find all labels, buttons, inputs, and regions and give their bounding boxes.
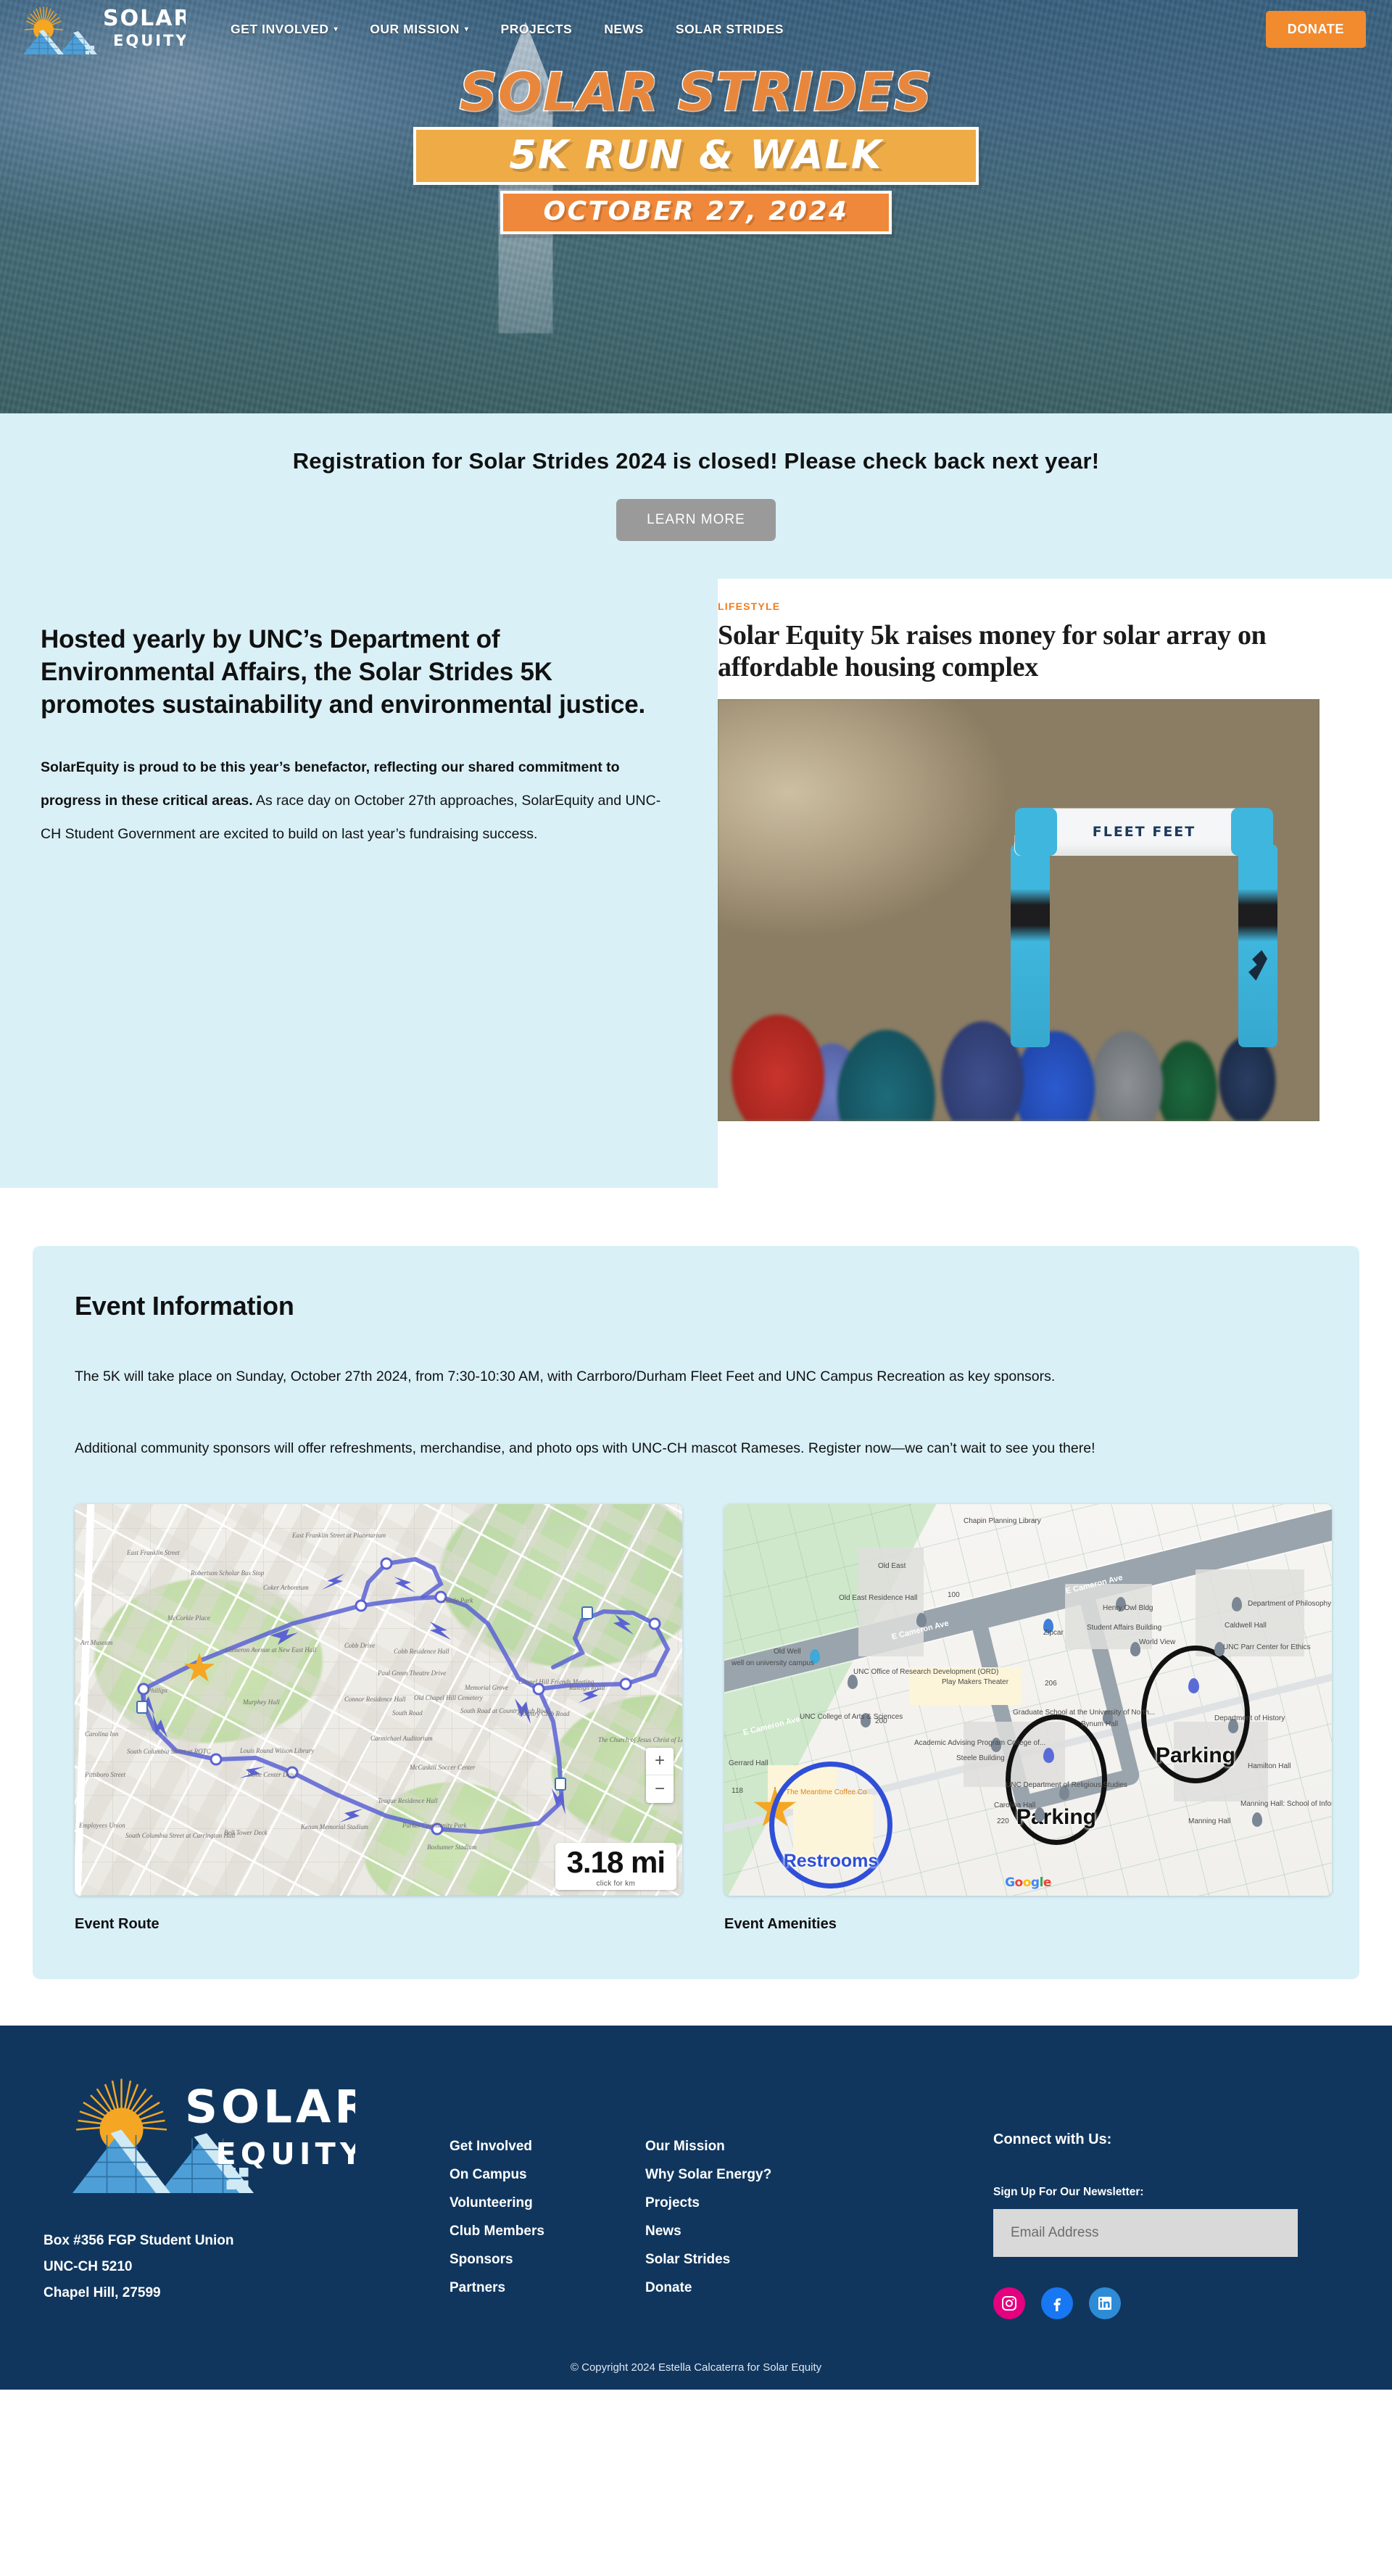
hero-title: SOLAR STRIDES (413, 67, 979, 118)
map-place-label: Steele Building (956, 1754, 1005, 1762)
hero-header: SOLAR EQUITY GET INVOLVED ▾ OUR MISSION … (0, 0, 1392, 413)
svg-text:EQUITY: EQUITY (216, 2137, 356, 2171)
main-navigation: SOLAR EQUITY GET INVOLVED ▾ OUR MISSION … (0, 0, 1392, 58)
footer-link[interactable]: Donate (645, 2280, 841, 2296)
article-kicker: LIFESTYLE (718, 600, 1392, 612)
chevron-down-icon: ▾ (465, 26, 469, 33)
footer-link[interactable]: Solar Strides (645, 2252, 841, 2268)
map-place-label: McCorkle Place (167, 1614, 210, 1622)
parking-pin-icon (1188, 1678, 1199, 1693)
map-place-label: Old East (878, 1562, 906, 1570)
footer-link[interactable]: On Campus (449, 2167, 645, 2183)
footer-column-our-mission: Our Mission Why Solar Energy? Projects N… (645, 2139, 841, 2308)
fleet-feet-arch: FLEET FEET (999, 808, 1289, 1047)
hero-subtitle: 5K RUN & WALK (423, 136, 969, 175)
map-pin-icon (1035, 1807, 1045, 1822)
map-place-label: Graduate School at the University of Nor… (1013, 1709, 1155, 1717)
map-place-label: Henry Owl Bldg (1103, 1604, 1153, 1612)
social-links (993, 2287, 1341, 2319)
map-place-label: East Franklin Street at Planetarium (292, 1532, 386, 1539)
donate-button[interactable]: DONATE (1266, 11, 1366, 48)
map-place-label: Connor Residence Hall (344, 1696, 406, 1703)
map-place-label: Phillips (147, 1687, 167, 1694)
footer-address: Box #356 FGP Student Union UNC-CH 5210 C… (43, 2228, 449, 2306)
map-place-label: McCaskill Soccer Center (410, 1764, 475, 1771)
address-line: Box #356 FGP Student Union (43, 2228, 449, 2254)
map-place-label: 220 (997, 1817, 1009, 1825)
map-pin-icon (848, 1675, 858, 1689)
map-place-label: Cameron Avenue at New East Hall (225, 1646, 316, 1654)
parking-label: Parking (1156, 1743, 1235, 1768)
map-place-label: Cobb Drive (344, 1642, 375, 1649)
footer-link[interactable]: Partners (449, 2280, 645, 2296)
restrooms-circle: Restrooms (769, 1762, 892, 1888)
footer-link[interactable]: Our Mission (645, 2139, 841, 2155)
coffee-shop-label: The Meantime Coffee Co (786, 1788, 867, 1796)
map-place-label: World View (1139, 1638, 1175, 1646)
map-place-label: Zipcar (1043, 1629, 1064, 1637)
event-information-section: Event Information The 5K will take place… (0, 1188, 1392, 2026)
map-place-label: Cobb Residence Hall (394, 1648, 449, 1655)
map-place-label: The Church of Jesus Christ of Latter-day… (598, 1736, 682, 1743)
map-place-label: Battle Park (443, 1597, 473, 1604)
map-place-label: Pittsboro Street (85, 1771, 125, 1778)
map-place-label: Old Well (774, 1648, 801, 1656)
nav-label: PROJECTS (500, 22, 572, 37)
map-place-label: Louis Round Wilson Library (240, 1747, 314, 1754)
hero-banner-art: SOLAR STRIDES 5K RUN & WALK OCTOBER 27, … (413, 67, 979, 234)
footer-link[interactable]: Projects (645, 2195, 841, 2211)
arch-leg-right (1238, 844, 1277, 1047)
map-place-label: Robertson Scholar Bus Stop (191, 1569, 264, 1577)
map-place-label: Academic Advising Program College of... (914, 1739, 1045, 1747)
map-place-label: Boshamer Stadium (427, 1844, 476, 1851)
parking-circle-south: Parking (1006, 1714, 1107, 1845)
map-place-label: Employees Union (79, 1822, 125, 1829)
map-place-label: Carolina Hall (994, 1801, 1035, 1809)
map-place-label: Chapin Planning Library (964, 1517, 1041, 1525)
event-amenities-column: E Cameron Ave E Cameron Ave E Cameron Av… (724, 1504, 1332, 1933)
connect-heading: Connect with Us: (993, 2131, 1341, 2148)
footer-link[interactable]: Club Members (449, 2224, 645, 2239)
registration-notice-section: Registration for Solar Strides 2024 is c… (0, 413, 1392, 579)
footer-connect: Connect with Us: Sign Up For Our Newslet… (993, 2066, 1341, 2319)
footer-link[interactable]: Sponsors (449, 2252, 645, 2268)
map-place-label: well on university campus (732, 1659, 814, 1667)
newsletter-heading: Sign Up For Our Newsletter: (993, 2186, 1341, 2199)
svg-text:SOLAR: SOLAR (185, 2080, 355, 2133)
map-place-label: East Franklin Street (127, 1549, 180, 1556)
newsletter-email-input[interactable] (993, 2209, 1298, 2257)
restrooms-label: Restrooms (784, 1851, 879, 1872)
intro-article-section: Hosted yearly by UNC’s Department of Env… (0, 579, 1392, 1188)
map-place-label: Bynum Hall (1081, 1720, 1118, 1728)
footer-content: SOLAR EQUITY Box #356 FGP Student Union … (0, 2066, 1392, 2319)
learn-more-button[interactable]: LEARN MORE (616, 499, 776, 541)
map-place-label: Murphey Hall (243, 1698, 280, 1706)
address-line: UNC-CH 5210 (43, 2254, 449, 2280)
footer-link[interactable]: Why Solar Energy? (645, 2167, 841, 2183)
map-place-label: 100 (948, 1591, 960, 1599)
map-place-label: Caldwell Hall (1225, 1622, 1267, 1630)
event-route-map[interactable]: + − 3.18 mi click for km East Franklin S… (75, 1504, 682, 1896)
site-logo[interactable]: SOLAR EQUITY (22, 1, 188, 57)
arch-brand-text: FLEET FEET (999, 824, 1289, 840)
site-footer: SOLAR EQUITY Box #356 FGP Student Union … (0, 2026, 1392, 2390)
nav-item-get-involved[interactable]: GET INVOLVED ▾ (215, 15, 354, 44)
article-headline: Solar Equity 5k raises money for solar a… (718, 619, 1385, 683)
map-place-label: South Road (392, 1709, 423, 1717)
map-place-label: UNC Parr Center for Ethics (1223, 1643, 1311, 1651)
arch-leg-left (1011, 844, 1050, 1047)
map-place-label: UNC Department of Religious Studies (1006, 1781, 1127, 1789)
solar-equity-logo-icon: SOLAR EQUITY (22, 1, 186, 57)
parking-pin-icon (1043, 1748, 1054, 1763)
footer-link[interactable]: Volunteering (449, 2195, 645, 2211)
route-map-zoom-in-button[interactable]: + (646, 1748, 674, 1775)
event-route-column: + − 3.18 mi click for km East Franklin S… (75, 1504, 682, 1933)
nav-item-our-mission[interactable]: OUR MISSION ▾ (354, 15, 484, 44)
linkedin-icon[interactable] (1089, 2287, 1121, 2319)
footer-solar-equity-logo-icon: SOLAR EQUITY (65, 2066, 355, 2215)
nav-item-solar-strides[interactable]: SOLAR STRIDES (660, 15, 800, 44)
address-line: Chapel Hill, 27599 (43, 2280, 449, 2306)
nav-label: GET INVOLVED (231, 22, 329, 37)
map-place-label: Kenan Memorial Stadium (301, 1823, 368, 1830)
nav-links: GET INVOLVED ▾ OUR MISSION ▾ PROJECTS NE… (215, 15, 1266, 44)
map-place-label: Student Affairs Building (1087, 1624, 1161, 1632)
article-photo: FLEET FEET (718, 699, 1319, 1121)
map-place-label: Art Museum (80, 1639, 112, 1646)
map-place-label: Memorial Grove (465, 1684, 508, 1691)
instagram-icon[interactable] (993, 2287, 1025, 2319)
map-place-label: UNC Office of Research Development (ORD) (853, 1668, 998, 1676)
event-information-title: Event Information (75, 1291, 1317, 1321)
map-pin-icon (1232, 1597, 1242, 1611)
route-map-zoom-controls[interactable]: + − (646, 1748, 674, 1803)
registration-notice-message: Registration for Solar Strides 2024 is c… (14, 448, 1377, 474)
nav-item-news[interactable]: NEWS (588, 15, 660, 44)
map-place-label: Carmichael Auditorium (370, 1735, 433, 1742)
map-pin-icon (1252, 1812, 1262, 1827)
footer-column-get-involved: Get Involved On Campus Volunteering Club… (449, 2139, 645, 2308)
hero-date-band: OCTOBER 27, 2024 (500, 191, 892, 234)
svg-text:EQUITY: EQUITY (113, 32, 186, 49)
map-place-label: Manning Hall (1188, 1817, 1230, 1825)
event-paragraph-1: The 5K will take place on Sunday, Octobe… (75, 1361, 1317, 1393)
event-paragraph-2: Additional community sponsors will offer… (75, 1432, 1317, 1465)
route-map-zoom-out-button[interactable]: − (646, 1775, 674, 1803)
hero-subtitle-band: 5K RUN & WALK (413, 127, 979, 185)
map-place-label: 206 (1045, 1680, 1057, 1688)
map-place-label: Country Club Road (518, 1710, 570, 1717)
footer-brand: SOLAR EQUITY Box #356 FGP Student Union … (43, 2066, 449, 2306)
map-place-label: South Columbia Street at ROTC (127, 1748, 211, 1755)
map-place-label: Old East Residence Hall (839, 1594, 917, 1602)
map-place-label: Hamilton Hall (1248, 1762, 1290, 1770)
footer-link[interactable]: Get Involved (449, 2139, 645, 2155)
chevron-down-icon: ▾ (334, 26, 339, 33)
map-place-label: Parker Community Park (402, 1822, 466, 1829)
map-place-label: Carolina Inn (85, 1730, 118, 1738)
intro-panel: Hosted yearly by UNC’s Department of Env… (0, 579, 718, 1188)
map-place-label: Raleigh Road (569, 1684, 605, 1691)
event-amenities-caption: Event Amenities (724, 1916, 1332, 1933)
svg-text:SOLAR: SOLAR (103, 6, 186, 31)
footer-link-columns: Get Involved On Campus Volunteering Club… (449, 2066, 993, 2308)
map-place-label: South Columbia Street at Carrington Hall (125, 1832, 235, 1839)
nav-label: SOLAR STRIDES (676, 22, 784, 37)
map-place-label: Teague Residence Hall (378, 1797, 438, 1804)
event-amenities-map[interactable]: E Cameron Ave E Cameron Ave E Cameron Av… (724, 1504, 1332, 1896)
map-place-label: 200 (875, 1717, 887, 1725)
nav-label: OUR MISSION (370, 22, 460, 37)
route-distance-badge[interactable]: 3.18 mi click for km (555, 1843, 676, 1890)
event-maps-row: + − 3.18 mi click for km East Franklin S… (75, 1504, 1317, 1933)
nav-label: NEWS (604, 22, 644, 37)
event-information-card: Event Information The 5K will take place… (33, 1246, 1359, 1979)
google-attribution: Google (1005, 1875, 1051, 1890)
map-place-label: Stone Center Drive (247, 1771, 297, 1778)
nav-item-projects[interactable]: PROJECTS (484, 15, 588, 44)
facebook-icon[interactable] (1041, 2287, 1073, 2319)
article-panel[interactable]: LIFESTYLE Solar Equity 5k raises money f… (718, 579, 1392, 1121)
map-place-label: Gerrard Hall (729, 1759, 768, 1767)
map-place-label: Department of History (1214, 1714, 1285, 1722)
hero-date: OCTOBER 27, 2024 (510, 199, 882, 225)
map-place-label: Department of Philosophy (1248, 1600, 1331, 1608)
map-pin-icon (916, 1613, 927, 1627)
footer-copyright: © Copyright 2024 Estella Calcaterra for … (0, 2319, 1392, 2390)
intro-lead-text: Hosted yearly by UNC’s Department of Env… (41, 624, 661, 721)
route-distance-unit-toggle[interactable]: click for km (567, 1880, 665, 1888)
map-place-label: Manning Hall: School of Information a... (1240, 1800, 1332, 1808)
map-place-label: Play Makers Theater (942, 1678, 1008, 1686)
route-distance-value: 3.18 mi (567, 1847, 665, 1878)
map-place-label: 118 (732, 1787, 743, 1795)
map-place-label: Paul Green Theatre Drive (378, 1669, 446, 1677)
intro-body-text: SolarEquity is proud to be this year’s b… (41, 751, 661, 851)
footer-link[interactable]: News (645, 2224, 841, 2239)
map-place-label: Coker Arboretum (263, 1584, 309, 1591)
map-place-label: Old Chapel Hill Cemetery (414, 1694, 483, 1701)
event-route-caption: Event Route (75, 1916, 682, 1933)
